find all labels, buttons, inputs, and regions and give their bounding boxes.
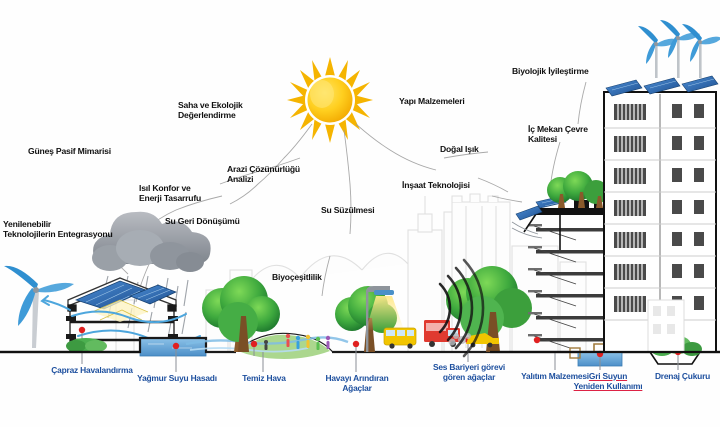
label-ses-bariyeri-goren-agaclar: Ses Bariyeri görevi gören ağaçlar: [418, 363, 520, 383]
label-su-geri-donusumu: Su Geri Dönüşümü: [165, 216, 240, 226]
label-insaat-teknolojisi: İnşaat Teknolojisi: [402, 180, 470, 190]
label-dogal-isik: Doğal Işık: [440, 144, 479, 154]
label-yapi-malzemeleri: Yapı Malzemeleri: [399, 96, 465, 106]
label-ic-mekan-cevre-kalitesi: İç Mekan Çevre Kalitesi: [528, 124, 588, 144]
label-gunes-pasif-mimarisi: Güneş Pasif Mimarisi: [28, 146, 111, 156]
label-temiz-hava: Temiz Hava: [233, 374, 295, 384]
label-biyocesitlilik: Biyoçeşitlilik: [272, 272, 322, 282]
label-biyolojik-iyilestirme: Biyolojik İyileştirme: [512, 66, 589, 76]
label-gri-suyun-yeniden-kullanimi: Gri Suyun Yeniden Kullanımı: [562, 372, 654, 392]
label-arazi-cozunurlugu-analizi: Arazi Çözünürlüğü Analizi: [227, 164, 300, 184]
hotspot-marker: [251, 341, 257, 347]
infographic-canvas: Güneş Pasif Mimarisi Yenilenebilir Tekno…: [0, 0, 720, 427]
hotspot-marker: [173, 343, 179, 349]
label-saha-ve-ekolojik-degerlendirme: Saha ve Ekolojik Değerlendirme: [178, 100, 243, 120]
hotspot-marker: [534, 337, 540, 343]
label-drenaj-cukuru: Drenaj Çukuru: [645, 372, 720, 382]
label-yagmur-suyu-hasadi: Yağmur Suyu Hasadı: [128, 374, 226, 384]
label-yenilenebilir-teknolojilerin-entegrasyonu: Yenilenebilir Teknolojilerin Entegrasyon…: [3, 219, 113, 239]
label-havayi-arindiran-agaclar: Havayı Arındıran Ağaçlar: [313, 374, 401, 394]
hotspot-marker: [79, 327, 85, 333]
label-isil-konfor-ve-enerji-tasarrufu: Isıl Konfor ve Enerji Tasarrufu: [139, 183, 201, 203]
hotspot-marker: [353, 341, 359, 347]
label-su-suzulmesi: Su Süzülmesi: [321, 205, 374, 215]
